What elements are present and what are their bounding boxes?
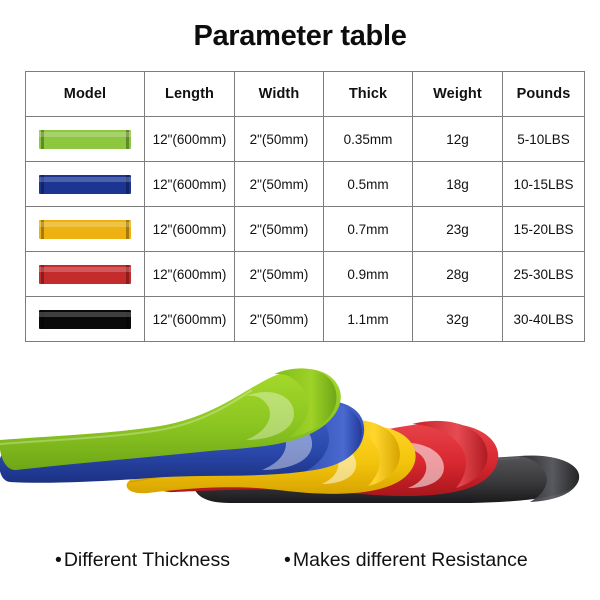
bullet-icon: • <box>55 548 62 572</box>
swatch-gloss <box>39 177 131 182</box>
page-title: Parameter table <box>0 20 600 53</box>
cell-thick: 1.1mm <box>324 297 413 342</box>
column-header-length: Length <box>145 72 235 117</box>
model-swatch-cell <box>26 252 145 297</box>
table-body: 12"(600mm) 2"(50mm) 0.35mm 12g 5-10LBS 1… <box>26 117 585 342</box>
cell-weight: 23g <box>413 207 503 252</box>
table-row: 12"(600mm) 2"(50mm) 0.5mm 18g 10-15LBS <box>26 162 585 207</box>
cell-pounds: 25-30LBS <box>503 252 585 297</box>
swatch-gloss <box>39 267 131 272</box>
table-row: 12"(600mm) 2"(50mm) 0.35mm 12g 5-10LBS <box>26 117 585 162</box>
cell-width: 2"(50mm) <box>235 117 324 162</box>
cell-thick: 0.35mm <box>324 117 413 162</box>
cell-pounds: 30-40LBS <box>503 297 585 342</box>
caption-different-thickness: •Different Thickness <box>55 548 230 572</box>
band-color-swatch-yellow <box>39 220 131 239</box>
table-header-row: Model Length Width Thick Weight Pounds <box>26 72 585 117</box>
feature-captions: •Different Thickness •Makes different Re… <box>0 548 600 572</box>
model-swatch-cell <box>26 117 145 162</box>
table-row: 12"(600mm) 2"(50mm) 0.9mm 28g 25-30LBS <box>26 252 585 297</box>
swatch-gloss <box>39 312 131 317</box>
column-header-pounds: Pounds <box>503 72 585 117</box>
cell-weight: 28g <box>413 252 503 297</box>
cell-thick: 0.9mm <box>324 252 413 297</box>
cell-thick: 0.7mm <box>324 207 413 252</box>
bullet-icon: • <box>284 548 291 572</box>
band-color-swatch-green <box>39 130 131 149</box>
column-header-thick: Thick <box>324 72 413 117</box>
table-row: 12"(600mm) 2"(50mm) 0.7mm 23g 15-20LBS <box>26 207 585 252</box>
parameter-table-container: Model Length Width Thick Weight Pounds <box>25 71 578 342</box>
band-color-swatch-black <box>39 310 131 329</box>
swatch-gloss <box>39 222 131 227</box>
model-swatch-cell <box>26 207 145 252</box>
cell-length: 12"(600mm) <box>145 252 235 297</box>
column-header-weight: Weight <box>413 72 503 117</box>
resistance-bands-illustration <box>0 352 600 532</box>
model-swatch-cell <box>26 297 145 342</box>
model-swatch-cell <box>26 162 145 207</box>
cell-length: 12"(600mm) <box>145 297 235 342</box>
cell-length: 12"(600mm) <box>145 117 235 162</box>
cell-pounds: 5-10LBS <box>503 117 585 162</box>
column-header-model: Model <box>26 72 145 117</box>
cell-weight: 18g <box>413 162 503 207</box>
cell-width: 2"(50mm) <box>235 297 324 342</box>
cell-thick: 0.5mm <box>324 162 413 207</box>
cell-width: 2"(50mm) <box>235 162 324 207</box>
cell-width: 2"(50mm) <box>235 207 324 252</box>
cell-length: 12"(600mm) <box>145 162 235 207</box>
cell-length: 12"(600mm) <box>145 207 235 252</box>
band-color-swatch-red <box>39 265 131 284</box>
caption-makes-different-resistance: •Makes different Resistance <box>284 548 528 572</box>
parameter-table: Model Length Width Thick Weight Pounds <box>25 71 585 342</box>
band-color-swatch-blue <box>39 175 131 194</box>
cell-pounds: 10-15LBS <box>503 162 585 207</box>
cell-pounds: 15-20LBS <box>503 207 585 252</box>
cell-weight: 12g <box>413 117 503 162</box>
cell-weight: 32g <box>413 297 503 342</box>
caption-right-label: Makes different Resistance <box>293 549 528 571</box>
product-photo-resistance-bands <box>0 352 600 532</box>
caption-left-label: Different Thickness <box>64 549 230 571</box>
table-row: 12"(600mm) 2"(50mm) 1.1mm 32g 30-40LBS <box>26 297 585 342</box>
column-header-width: Width <box>235 72 324 117</box>
swatch-gloss <box>39 132 131 137</box>
cell-width: 2"(50mm) <box>235 252 324 297</box>
table-header: Model Length Width Thick Weight Pounds <box>26 72 585 117</box>
